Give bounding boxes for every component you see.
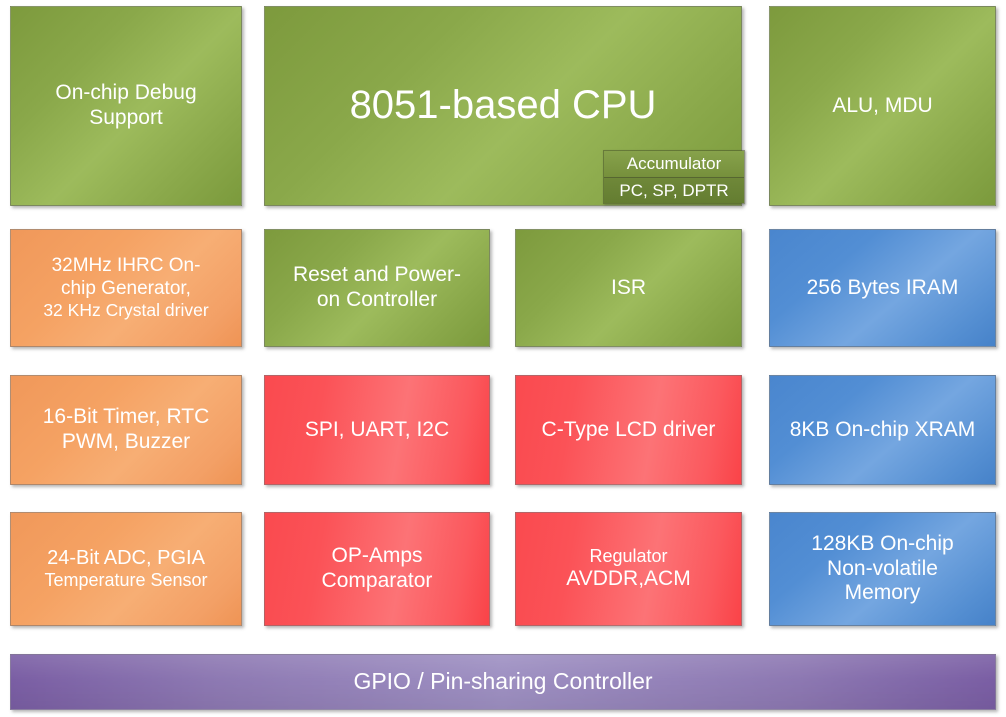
block-diagram-canvas: On-chip Debug Support 8051-based CPU Acc… (0, 0, 1006, 717)
block-gpio-pin-sharing-controller[interactable]: GPIO / Pin-sharing Controller (10, 654, 996, 710)
block-label-line: 128KB On-chip (811, 532, 953, 557)
block-alu-mdu[interactable]: ALU, MDU (769, 6, 996, 206)
block-iram[interactable]: 256 Bytes IRAM (769, 229, 996, 347)
block-label-line: C-Type LCD driver (542, 418, 716, 443)
block-label-line: 8KB On-chip XRAM (790, 418, 976, 443)
block-label-line: 256 Bytes IRAM (807, 276, 959, 301)
block-label-line: AVDDR,ACM (566, 567, 690, 592)
block-label-line: Memory (845, 581, 921, 606)
block-spi-uart-i2c[interactable]: SPI, UART, I2C (264, 375, 490, 485)
block-label-line: Reset and Power- (293, 263, 461, 288)
block-label-line: on Controller (317, 288, 437, 313)
block-label-line: chip Generator, (61, 278, 191, 300)
block-label-line: 16-Bit Timer, RTC (43, 405, 209, 430)
block-accumulator-registers[interactable]: Accumulator PC, SP, DPTR (603, 150, 745, 204)
block-label-line: Non-volatile (827, 557, 938, 582)
block-label-line: PWM, Buzzer (62, 430, 190, 455)
block-label-line: 8051-based CPU (350, 82, 657, 129)
block-isr[interactable]: ISR (515, 229, 742, 347)
block-label-line: 32MHz IHRC On- (52, 255, 201, 277)
block-adc-pgia-temperature-sensor[interactable]: 24-Bit ADC, PGIA Temperature Sensor (10, 512, 242, 626)
block-label-line: Regulator (589, 546, 667, 567)
accumulator-label: Accumulator (604, 151, 744, 178)
block-on-chip-debug-support[interactable]: On-chip Debug Support (10, 6, 242, 206)
block-label-line: On-chip Debug (55, 81, 196, 106)
block-non-volatile-memory[interactable]: 128KB On-chip Non-volatile Memory (769, 512, 996, 626)
block-op-amps-comparator[interactable]: OP-Amps Comparator (264, 512, 490, 626)
block-label-line: 24-Bit ADC, PGIA (47, 547, 205, 571)
block-label-line: 32 KHz Crystal driver (43, 300, 208, 321)
block-timer-rtc-pwm-buzzer[interactable]: 16-Bit Timer, RTC PWM, Buzzer (10, 375, 242, 485)
block-label-line: ISR (611, 276, 646, 301)
block-lcd-driver[interactable]: C-Type LCD driver (515, 375, 742, 485)
block-label-line: GPIO / Pin-sharing Controller (353, 668, 652, 695)
block-xram[interactable]: 8KB On-chip XRAM (769, 375, 996, 485)
accumulator-registers-label: PC, SP, DPTR (604, 178, 744, 204)
block-clock-generator[interactable]: 32MHz IHRC On- chip Generator, 32 KHz Cr… (10, 229, 242, 347)
block-label-line: ALU, MDU (832, 94, 932, 119)
block-reset-power-on-controller[interactable]: Reset and Power- on Controller (264, 229, 490, 347)
block-label-line: OP-Amps (331, 544, 422, 569)
block-label-line: Support (89, 106, 163, 131)
block-label-line: Temperature Sensor (44, 570, 207, 591)
block-regulator[interactable]: Regulator AVDDR,ACM (515, 512, 742, 626)
block-label-line: Comparator (322, 569, 433, 594)
block-label-line: SPI, UART, I2C (305, 418, 449, 443)
